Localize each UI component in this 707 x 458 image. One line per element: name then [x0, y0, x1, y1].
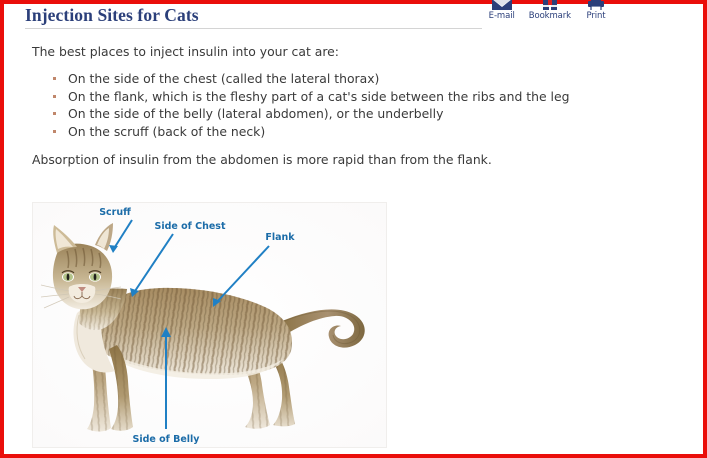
list-item: On the side of the chest (called the lat…	[50, 70, 569, 88]
svg-text:Side of Belly: Side of Belly	[132, 434, 200, 445]
page-title: Injection Sites for Cats	[25, 5, 199, 26]
cat-injection-sites-illustration: Scruff Side of Chest Flank	[32, 202, 387, 448]
absorption-paragraph: Absorption of insulin from the abdomen i…	[32, 152, 492, 167]
bullet-icon	[53, 77, 56, 80]
svg-text:Flank: Flank	[265, 232, 295, 243]
title-divider	[25, 28, 482, 29]
print-label: Print	[586, 11, 605, 21]
bookmark-book-icon	[539, 0, 561, 10]
page-content: Injection Sites for Cats E-mail	[4, 4, 703, 454]
bullet-icon	[53, 95, 56, 98]
svg-text:Scruff: Scruff	[99, 207, 131, 218]
list-item: On the side of the belly (lateral abdome…	[50, 105, 569, 123]
list-item-text: On the scruff (back of the neck)	[68, 124, 265, 139]
bullet-icon	[53, 130, 56, 133]
list-item-text: On the side of the chest (called the lat…	[68, 71, 379, 86]
list-item-text: On the side of the belly (lateral abdome…	[68, 106, 443, 121]
email-label: E-mail	[489, 11, 515, 21]
printer-icon	[585, 0, 607, 10]
envelope-icon	[491, 0, 513, 10]
page-frame: Injection Sites for Cats E-mail	[0, 0, 707, 458]
bookmark-button[interactable]: Bookmark	[529, 0, 571, 21]
list-item: On the flank, which is the fleshy part o…	[50, 88, 569, 106]
bookmark-label: Bookmark	[529, 11, 571, 21]
intro-paragraph: The best places to inject insulin into y…	[32, 44, 339, 59]
injection-sites-list: On the side of the chest (called the lat…	[50, 70, 569, 140]
list-item-text: On the flank, which is the fleshy part o…	[68, 89, 569, 104]
list-item: On the scruff (back of the neck)	[50, 123, 569, 141]
email-button[interactable]: E-mail	[489, 0, 515, 21]
svg-text:Side of Chest: Side of Chest	[155, 221, 226, 232]
print-button[interactable]: Print	[585, 0, 607, 21]
share-toolbar: E-mail Bookmark	[489, 0, 607, 21]
bullet-icon	[53, 112, 56, 115]
